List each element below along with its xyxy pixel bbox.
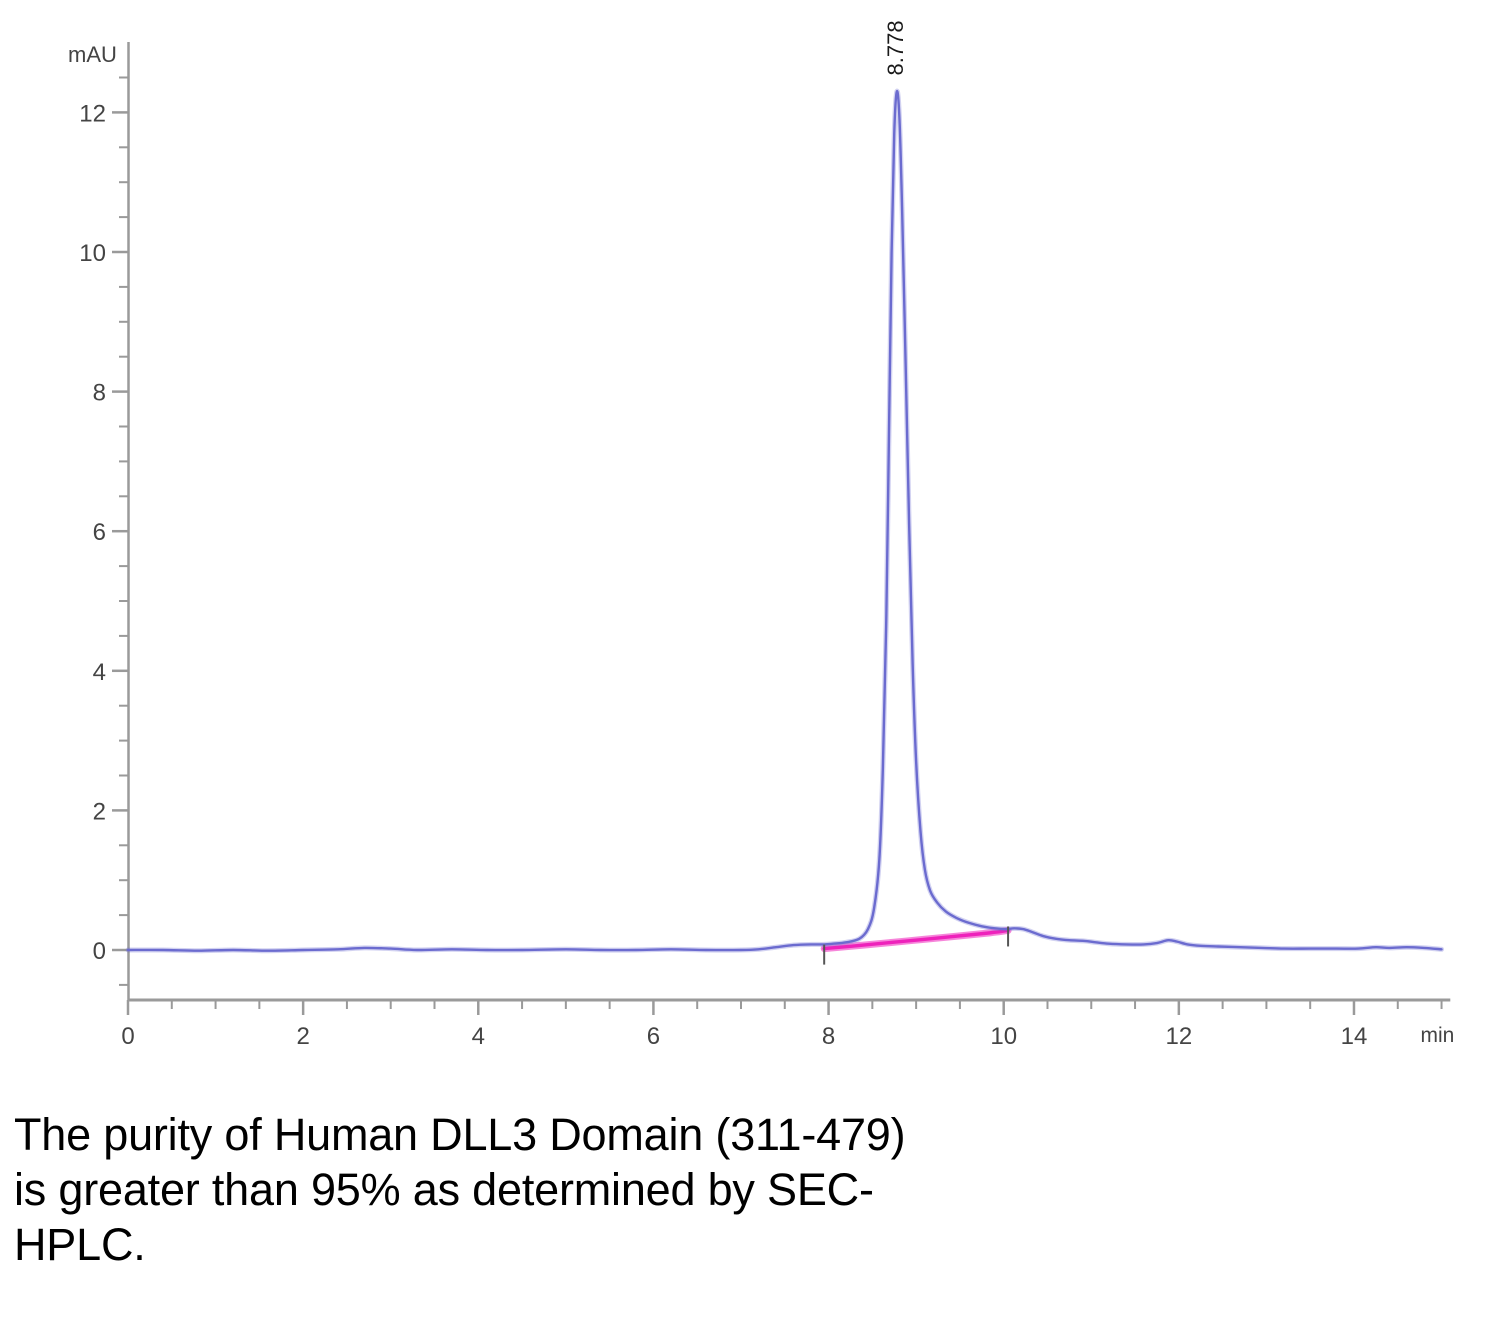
x-axis-tick-label: 0	[121, 1023, 134, 1050]
uv-trace-halo	[128, 91, 1442, 951]
sec-hplc-figure: 8.778 024681012mAU02468101214min The pur…	[0, 0, 1500, 1318]
x-axis-title: min	[1420, 1024, 1454, 1047]
uv-trace	[128, 91, 1442, 951]
y-axis-tick-label: 12	[79, 100, 106, 127]
x-axis-tick-label: 8	[822, 1023, 835, 1050]
y-axis-title: mAU	[68, 42, 117, 67]
chromatogram-svg: 8.778 024681012mAU02468101214min	[0, 0, 1500, 1070]
x-axis-tick-label: 6	[647, 1023, 660, 1050]
chromatogram-chart: 8.778 024681012mAU02468101214min	[0, 0, 1500, 1070]
caption-line-1: The purity of Human DLL3 Domain (311-479…	[14, 1108, 1314, 1163]
peak-label-group: 8.778	[883, 20, 908, 75]
caption-line-2: is greater than 95% as determined by SEC…	[14, 1163, 1314, 1218]
y-axis-tick-label: 2	[93, 798, 106, 825]
x-axis-tick-label: 2	[296, 1023, 309, 1050]
x-axis-tick-label: 14	[1341, 1023, 1368, 1050]
y-axis-tick-label: 4	[93, 659, 106, 686]
y-axis-tick-label: 6	[93, 519, 106, 546]
x-axis-tick-label: 10	[990, 1023, 1017, 1050]
x-axis-tick-label: 12	[1165, 1023, 1192, 1050]
y-axis-tick-label: 0	[93, 938, 106, 965]
y-axis-tick-label: 10	[79, 240, 106, 267]
caption-line-3: HPLC.	[14, 1218, 1314, 1273]
annotations: 8.778	[824, 20, 1008, 964]
x-axis-tick-label: 4	[472, 1023, 485, 1050]
data-traces	[128, 91, 1442, 951]
y-axis-tick-label: 8	[93, 380, 106, 407]
axes	[112, 42, 1450, 1015]
axis-labels: 024681012mAU02468101214min	[68, 42, 1454, 1050]
figure-caption: The purity of Human DLL3 Domain (311-479…	[14, 1108, 1314, 1273]
peak-retention-time-label: 8.778	[883, 20, 908, 75]
